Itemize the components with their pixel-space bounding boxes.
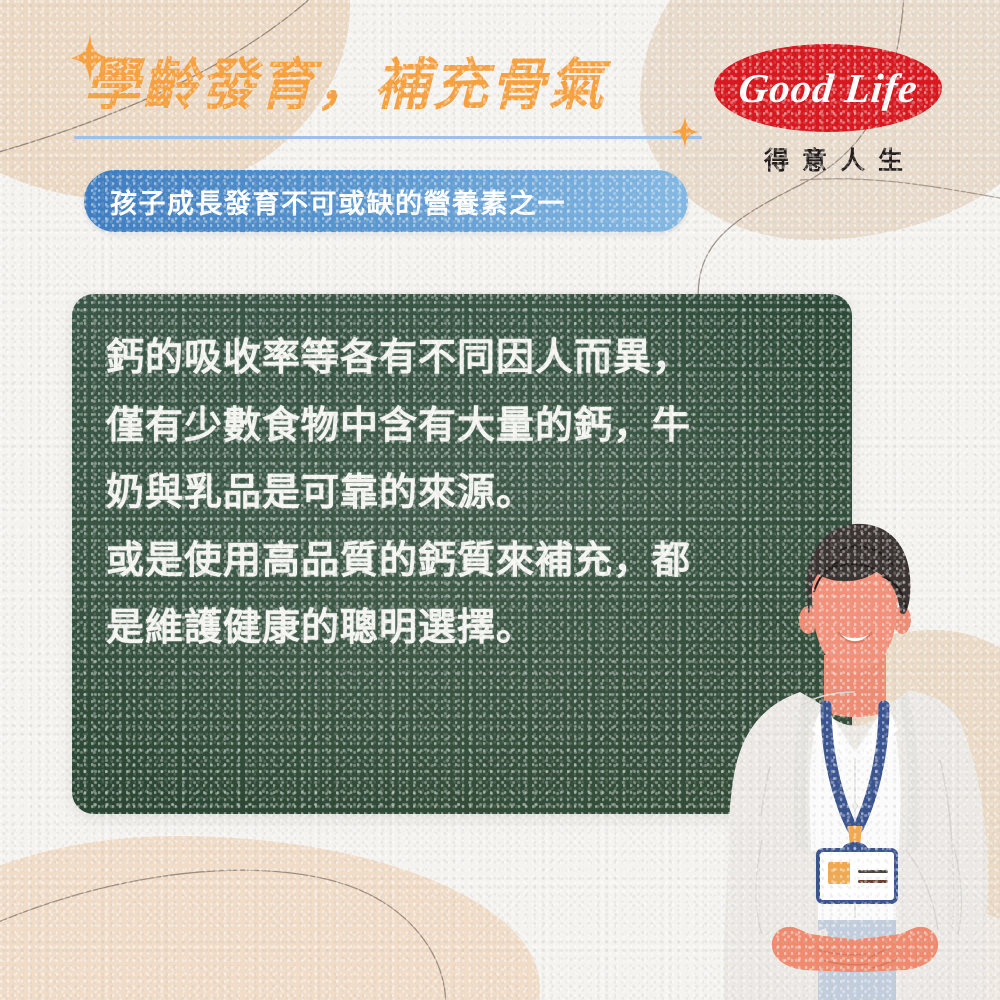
logo-ellipse-shape: Good Life [714, 44, 942, 132]
sparkle-icon [671, 116, 699, 148]
decor-blob-bottom-left [0, 836, 540, 1000]
title-divider [74, 136, 702, 139]
logo-wordmark: Good Life [736, 64, 920, 112]
board-line: 僅有少數食物中含有大量的鈣，牛 [106, 396, 824, 458]
brand-logo: Good Life 得意人生 [714, 44, 954, 177]
logo-subtitle: 得意人生 [714, 141, 954, 177]
poster-canvas: 學齡發育，補充骨氣 孩子成長發育不可或缺的營養素之一 Good Life 得意人… [0, 0, 1000, 1000]
subtitle-banner: 孩子成長發育不可或缺的營養素之一 [84, 170, 688, 232]
board-line: 奶與乳品是可靠的來源。 [106, 463, 824, 525]
subtitle-banner-text: 孩子成長發育不可或缺的營養素之一 [110, 182, 566, 221]
page-title: 學齡發育，補充骨氣 [84, 56, 606, 115]
doctor-illustration [700, 520, 1000, 1000]
board-line: 鈣的吸收率等各有不同因人而異， [106, 328, 824, 390]
